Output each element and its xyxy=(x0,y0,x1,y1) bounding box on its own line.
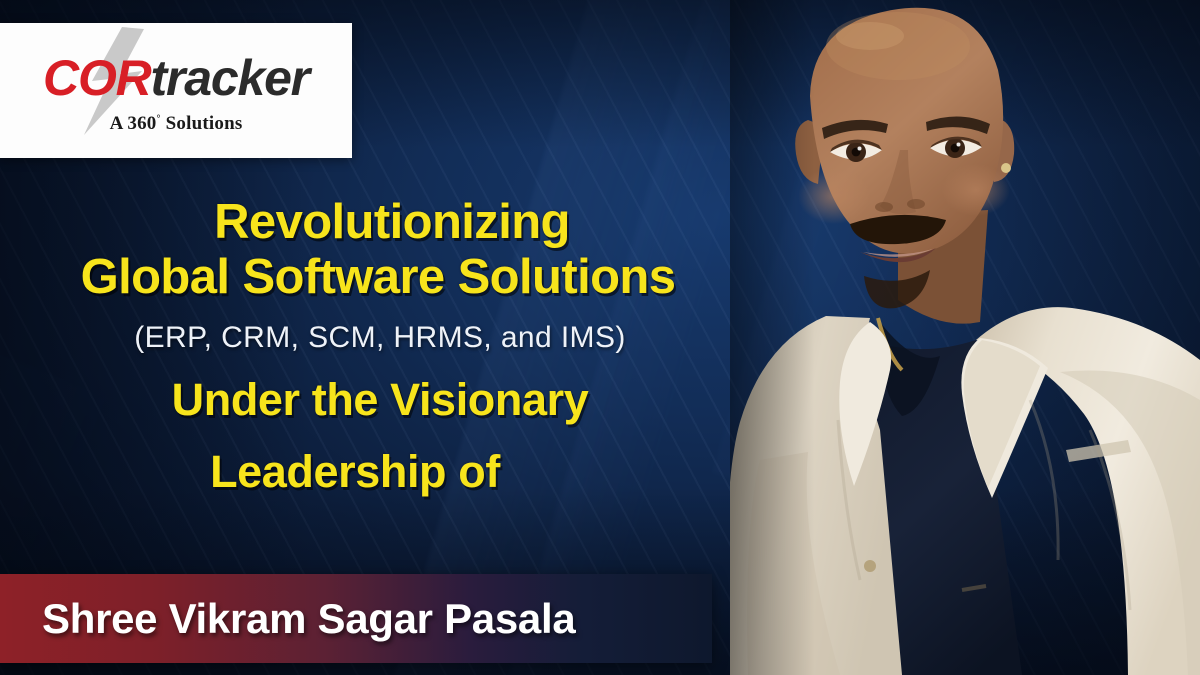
logo-tagline-prefix: A 360 xyxy=(110,113,157,134)
product-subline: (ERP, CRM, SCM, HRMS, and IMS) xyxy=(0,321,770,355)
name-banner: Shree Vikram Sagar Pasala xyxy=(0,574,712,663)
cortracker-logo-card: CORtracker A 360° Solutions xyxy=(0,23,352,158)
logo-word-secondary: tracker xyxy=(151,50,309,106)
logo-word-primary: COR xyxy=(43,50,151,106)
logo-tagline: A 360° Solutions xyxy=(0,113,352,135)
headline-line-1: Revolutionizing xyxy=(14,195,770,250)
logo-tagline-suffix: Solutions xyxy=(166,113,243,134)
logo-tagline-degree: ° xyxy=(157,114,161,125)
logo-wordmark: CORtracker xyxy=(0,53,352,103)
secondary-headline-line-1: Under the Visionary xyxy=(0,373,770,427)
headline-block: Revolutionizing Global Software Solution… xyxy=(0,195,770,499)
headline-line-2: Global Software Solutions xyxy=(0,250,770,305)
portrait-photo xyxy=(730,0,1200,675)
person-name: Shree Vikram Sagar Pasala xyxy=(42,595,575,643)
promo-banner-stage: CORtracker A 360° Solutions Revolutioniz… xyxy=(0,0,1200,675)
secondary-headline-line-2: Leadership of xyxy=(0,445,770,499)
